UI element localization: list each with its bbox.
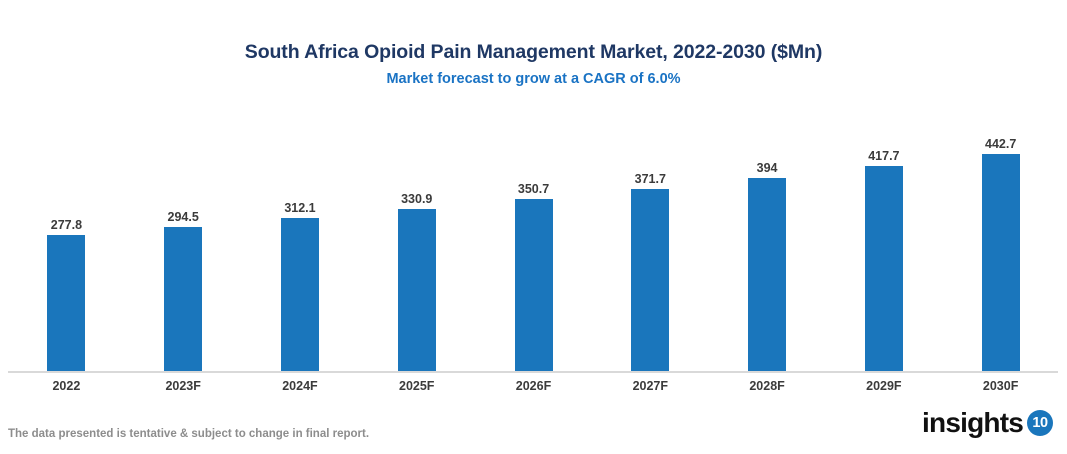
bar-value-label: 350.7: [518, 182, 549, 196]
bar-value-label: 394: [757, 161, 778, 175]
category-slot: 2024F: [242, 377, 359, 395]
bar-value-label: 330.9: [401, 192, 432, 206]
bar-slot: 442.7: [942, 110, 1059, 372]
x-axis-label: 2028F: [749, 379, 784, 393]
bar[interactable]: [631, 189, 669, 372]
bar-value-label: 277.8: [51, 218, 82, 232]
bar[interactable]: [281, 218, 319, 372]
page-title: South Africa Opioid Pain Management Mark…: [0, 40, 1067, 64]
x-axis-label: 2026F: [516, 379, 551, 393]
chart-subtitle: Market forecast to grow at a CAGR of 6.0…: [0, 70, 1067, 88]
bar-value-label: 417.7: [868, 149, 899, 163]
x-axis-label: 2030F: [983, 379, 1018, 393]
bar[interactable]: [515, 199, 553, 372]
bar[interactable]: [982, 154, 1020, 372]
plot-area: 277.8294.5312.1330.9350.7371.7394417.744…: [8, 110, 1059, 372]
category-slot: 2025F: [358, 377, 475, 395]
bar[interactable]: [748, 178, 786, 372]
x-axis-line: [8, 371, 1058, 373]
bar-slot: 394: [709, 110, 826, 372]
x-axis-label: 2024F: [282, 379, 317, 393]
bar-value-label: 442.7: [985, 137, 1016, 151]
bar-slot: 350.7: [475, 110, 592, 372]
logo-wordmark: insights: [922, 408, 1023, 438]
bar[interactable]: [865, 166, 903, 372]
category-slot: 2028F: [709, 377, 826, 395]
bar-slot: 277.8: [8, 110, 125, 372]
title-block: South Africa Opioid Pain Management Mark…: [0, 40, 1067, 88]
chart-page: South Africa Opioid Pain Management Mark…: [0, 0, 1067, 454]
bar-slot: 330.9: [358, 110, 475, 372]
insights10-logo: insights 10: [922, 408, 1053, 438]
x-axis-tick-labels: 20222023F2024F2025F2026F2027F2028F2029F2…: [8, 377, 1059, 395]
bar-slot: 312.1: [242, 110, 359, 372]
bar[interactable]: [164, 227, 202, 372]
logo-badge-icon: 10: [1027, 410, 1053, 436]
bar-slot: 294.5: [125, 110, 242, 372]
bar-series: 277.8294.5312.1330.9350.7371.7394417.744…: [8, 110, 1059, 372]
category-slot: 2026F: [475, 377, 592, 395]
disclaimer-text: The data presented is tentative & subjec…: [8, 428, 369, 440]
bar-value-label: 371.7: [635, 172, 666, 186]
x-axis-label: 2023F: [165, 379, 200, 393]
category-slot: 2022: [8, 377, 125, 395]
bar-value-label: 312.1: [284, 201, 315, 215]
bar[interactable]: [398, 209, 436, 372]
x-axis-label: 2025F: [399, 379, 434, 393]
category-slot: 2029F: [825, 377, 942, 395]
bar[interactable]: [47, 235, 85, 372]
x-axis-label: 2027F: [633, 379, 668, 393]
x-axis-label: 2029F: [866, 379, 901, 393]
bar-slot: 371.7: [592, 110, 709, 372]
category-slot: 2023F: [125, 377, 242, 395]
bar-value-label: 294.5: [168, 210, 199, 224]
category-slot: 2027F: [592, 377, 709, 395]
category-slot: 2030F: [942, 377, 1059, 395]
x-axis-label: 2022: [52, 379, 80, 393]
bar-slot: 417.7: [825, 110, 942, 372]
